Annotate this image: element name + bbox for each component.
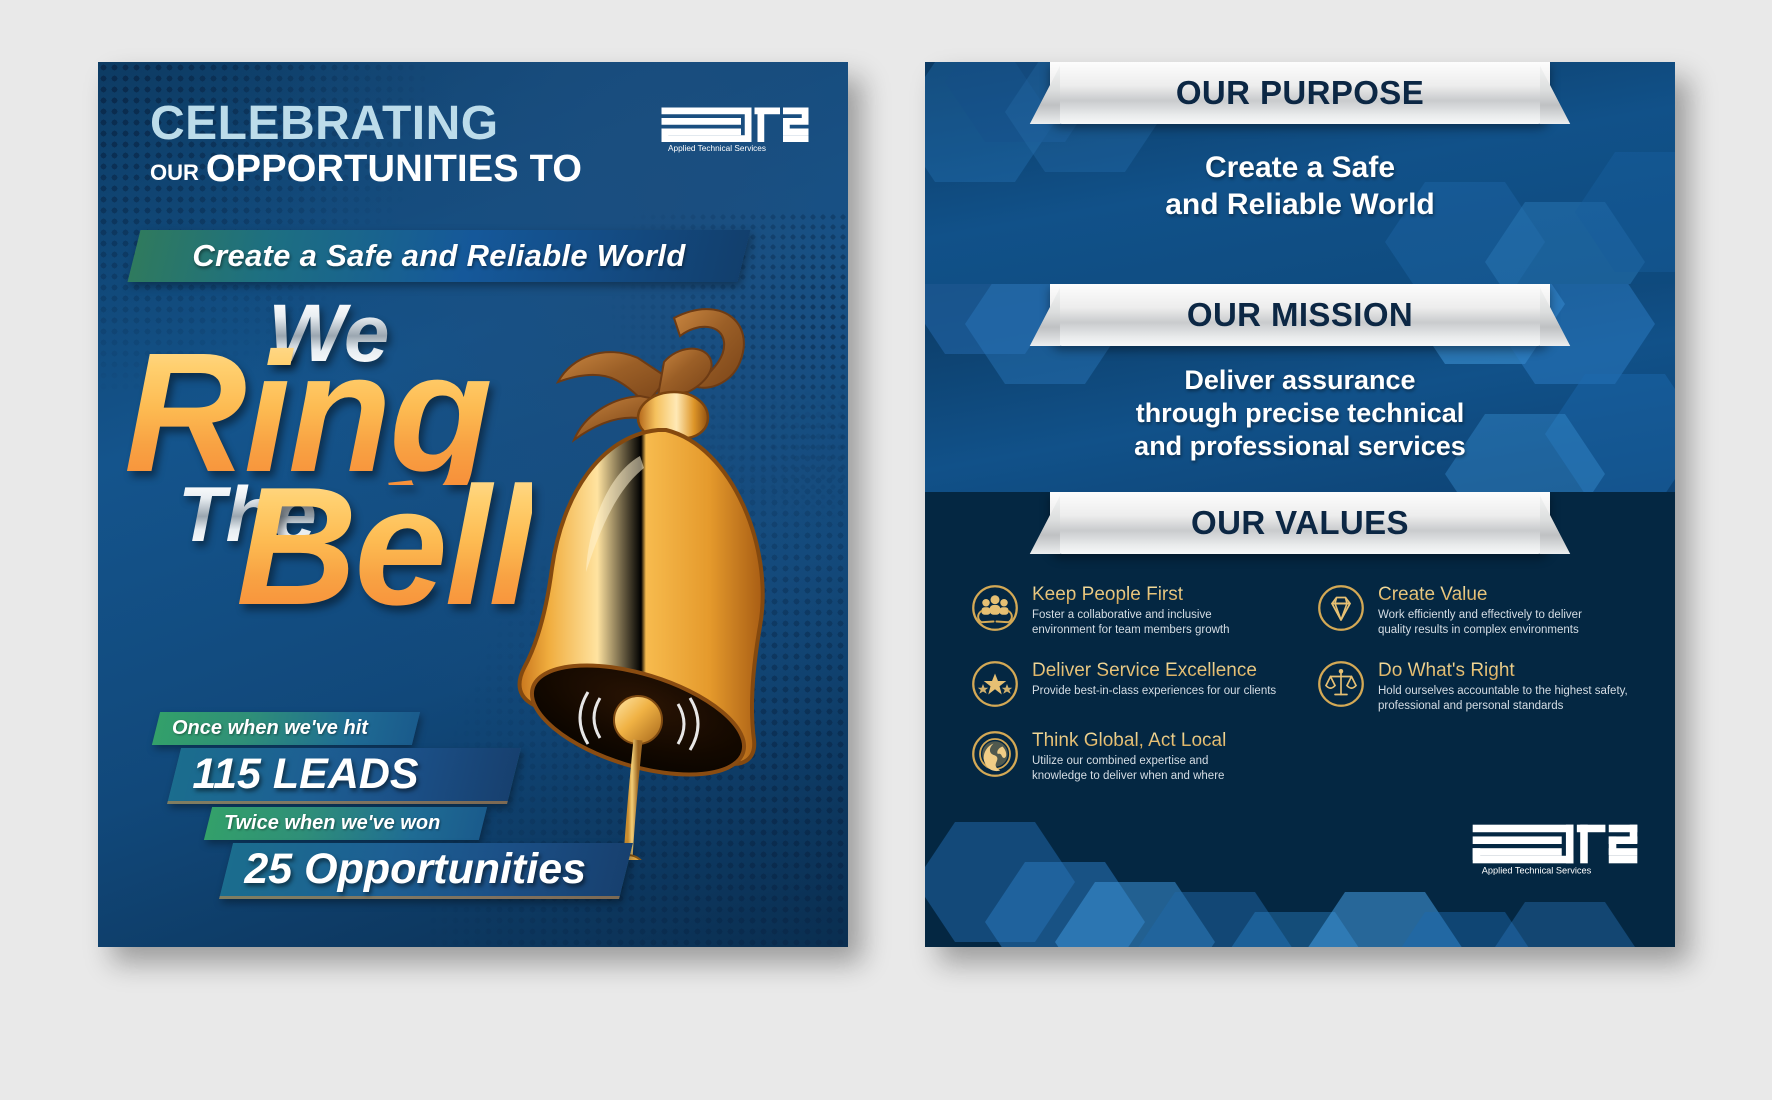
five-stars-icon	[971, 660, 1019, 708]
values-left-column: Keep People First Foster a collaborative…	[971, 584, 1293, 784]
callout-opportunities-value-text: 25 Opportunities	[226, 845, 604, 894]
value-item: Do What's Right Hold ourselves accountab…	[1317, 660, 1639, 714]
left-poster: CELEBRATING OUR OPPORTUNITIES TO	[98, 62, 848, 947]
our-purpose-body: Create a Safe and Reliable World	[925, 150, 1675, 223]
value-desc: Foster a collaborative and inclusive env…	[1032, 608, 1230, 638]
values-band: OUR VALUES	[925, 492, 1675, 947]
value-desc: Provide best-in-class experiences for ou…	[1032, 684, 1276, 699]
callout-opportunities: Twice when we've won 25 Opportunities	[208, 807, 626, 899]
ats-logo-top: Applied Technical Services	[660, 106, 810, 153]
bell-clapper	[614, 696, 662, 744]
left-poster-header: CELEBRATING OUR OPPORTUNITIES TO	[150, 100, 710, 188]
value-title: Think Global, Act Local	[1032, 731, 1226, 751]
callout-leads: Once when we've hit 115 LEADS	[156, 712, 514, 804]
value-title: Do What's Right	[1378, 661, 1628, 681]
callout-leads-label: Once when we've hit	[152, 712, 420, 745]
ats-logo-bottom: Applied Technical Services	[1471, 823, 1639, 875]
value-item: Keep People First Foster a collaborative…	[971, 584, 1293, 638]
our-values-heading: OUR VALUES	[1191, 504, 1409, 542]
callout-opportunities-value: 25 Opportunities	[219, 843, 633, 899]
right-poster: OUR PURPOSE Create a Safe and Reliable W…	[925, 62, 1675, 947]
globe-icon	[971, 730, 1019, 778]
ats-wordmark-bottom: Applied Technical Services	[1482, 865, 1592, 875]
value-desc: Utilize our combined expertise and knowl…	[1032, 754, 1226, 784]
our-mission-ribbon: OUR MISSION	[1050, 284, 1550, 346]
our-values-ribbon: OUR VALUES	[1050, 492, 1550, 554]
callout-opportunities-label: Twice when we've won	[204, 807, 487, 840]
value-item: Think Global, Act Local Utilize our comb…	[971, 730, 1293, 784]
callout-leads-value: 115 LEADS	[167, 748, 521, 804]
callout-leads-label-text: Once when we've hit	[156, 717, 384, 740]
values-grid: Keep People First Foster a collaborative…	[971, 584, 1639, 784]
purpose-band: OUR PURPOSE Create a Safe and Reliable W…	[925, 62, 1675, 284]
we-ring-the-bell-title: We Ring The Bell	[120, 300, 550, 670]
our-text: OUR	[150, 162, 199, 188]
value-item: Deliver Service Excellence Provide best-…	[971, 660, 1293, 708]
callout-leads-value-text: 115 LEADS	[174, 750, 436, 799]
mission-band: OUR MISSION Deliver assurance through pr…	[925, 284, 1675, 492]
our-purpose-heading: OUR PURPOSE	[1176, 74, 1424, 112]
value-title: Create Value	[1378, 585, 1582, 605]
poster-pair-canvas: CELEBRATING OUR OPPORTUNITIES TO	[0, 0, 1772, 1100]
value-title: Keep People First	[1032, 585, 1230, 605]
our-purpose-ribbon: OUR PURPOSE	[1050, 62, 1550, 124]
people-in-hands-icon	[971, 584, 1019, 632]
our-mission-body: Deliver assurance through precise techni…	[925, 364, 1675, 463]
values-right-column: Create Value Work efficiently and effect…	[1317, 584, 1639, 784]
callout-opportunities-label-text: Twice when we've won	[208, 812, 456, 835]
value-item: Create Value Work efficiently and effect…	[1317, 584, 1639, 638]
golden-bell-illustration	[488, 300, 818, 860]
tagline-text: Create a Safe and Reliable World	[134, 230, 744, 282]
tagline-ribbon: Create a Safe and Reliable World	[128, 230, 751, 282]
our-mission-heading: OUR MISSION	[1187, 296, 1413, 334]
value-desc: Work efficiently and effectively to deli…	[1378, 608, 1582, 638]
diamond-icon	[1317, 584, 1365, 632]
value-title: Deliver Service Excellence	[1032, 661, 1276, 681]
value-desc: Hold ourselves accountable to the highes…	[1378, 684, 1628, 714]
scales-of-justice-icon	[1317, 660, 1365, 708]
ats-wordmark-top: Applied Technical Services	[668, 144, 766, 153]
celebrating-text: CELEBRATING	[150, 100, 710, 148]
opportunities-to-text: OPPORTUNITIES TO	[206, 150, 582, 188]
